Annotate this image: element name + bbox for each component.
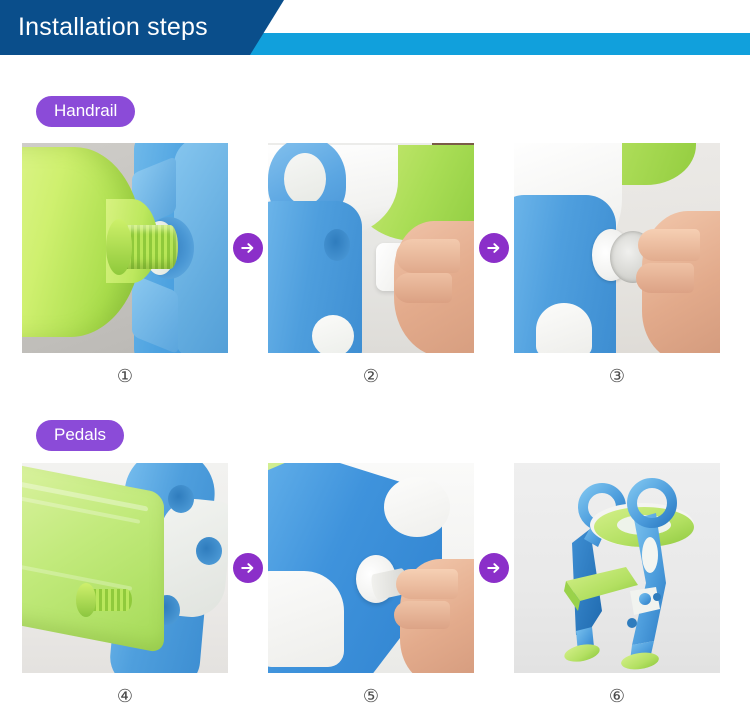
photo3-finger-lower — [636, 263, 694, 293]
page-header: Installation steps — [0, 0, 750, 58]
step-image-6 — [514, 463, 720, 673]
step-cell-1: ① — [22, 143, 228, 392]
photo6-product-illustration — [514, 463, 720, 673]
step-cell-6: ⑥ — [514, 463, 720, 712]
photo2-blue-ring-hole — [284, 153, 326, 205]
arrow-gap-2-3 — [474, 143, 514, 353]
section-label-handrail: Handrail — [36, 96, 135, 127]
photo4-leg-hole-middle — [196, 537, 222, 565]
page-title: Installation steps — [18, 10, 208, 44]
step-number-2: ② — [268, 353, 474, 392]
section-label-pedals-row: Pedals — [0, 420, 124, 451]
step-cell-4: ④ — [22, 463, 228, 712]
step-image-1 — [22, 143, 228, 353]
arrow-right-icon — [479, 553, 509, 583]
photo2-mount-hole — [324, 229, 350, 261]
step-number-4: ④ — [22, 673, 228, 712]
photo4-leg-hole-top — [168, 485, 194, 513]
photo4-green-pedal-plate — [22, 463, 164, 654]
photo5-finger-upper — [396, 569, 458, 599]
step-number-5: ⑤ — [268, 673, 474, 712]
photo5-white-patch-upper — [384, 477, 450, 537]
step-image-5 — [268, 463, 474, 673]
step-image-3 — [514, 143, 720, 353]
photo2-white-patch — [312, 315, 354, 353]
photo5-finger-lower — [394, 601, 450, 629]
photo2-finger-lower — [394, 273, 452, 303]
photo3-finger-upper — [638, 229, 700, 261]
steps-row-pedals: ④ ⑤ — [0, 463, 750, 712]
section-label-handrail-row: Handrail — [0, 96, 135, 127]
step-number-6: ⑥ — [514, 673, 720, 712]
arrow-gap-5-6 — [474, 463, 514, 673]
step-cell-5: ⑤ — [268, 463, 474, 712]
arrow-right-icon — [479, 233, 509, 263]
step-number-3: ③ — [514, 353, 720, 392]
arrow-gap-1-2 — [228, 143, 268, 353]
step-image-4 — [22, 463, 228, 673]
step-number-1: ① — [22, 353, 228, 392]
photo5-white-patch-lower — [268, 571, 344, 667]
section-label-pedals: Pedals — [36, 420, 124, 451]
photo3-white-patch — [536, 303, 592, 353]
arrow-right-icon — [233, 553, 263, 583]
steps-row-handrail: ① ② — [0, 143, 750, 392]
step-cell-2: ② — [268, 143, 474, 392]
photo1-green-screw-head — [106, 219, 132, 275]
arrow-right-icon — [233, 233, 263, 263]
photo4-green-screw-head — [76, 583, 96, 617]
arrow-gap-4-5 — [228, 463, 268, 673]
photo2-finger-upper — [396, 239, 460, 273]
step-cell-3: ③ — [514, 143, 720, 392]
step-image-2 — [268, 143, 474, 353]
